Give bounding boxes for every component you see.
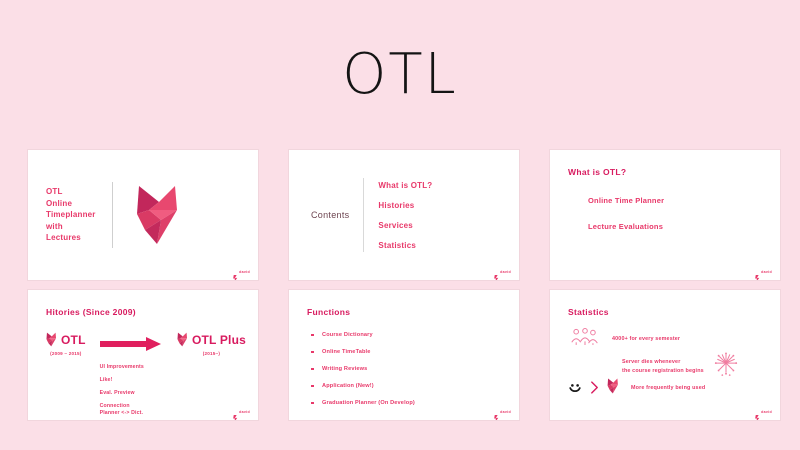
bullet-icon xyxy=(311,334,314,335)
cover-title: OTL Online Timeplanner with Lectures xyxy=(46,186,96,244)
bolt-icon xyxy=(755,269,759,275)
contents-list: What is OTL? Histories Services Statisti… xyxy=(378,181,432,250)
footer-mark-text: david xyxy=(761,410,772,414)
slide-heading: Functions xyxy=(307,307,350,317)
history-left-name: OTL xyxy=(61,333,86,347)
history-right-name: OTL Plus xyxy=(192,333,246,347)
list-item: Application (New!) xyxy=(311,383,415,389)
statistics-users-text: 4000+ for every semester xyxy=(612,335,680,343)
bullet-icon xyxy=(311,402,314,403)
statistics-server-text: Server dies whenever the course registra… xyxy=(622,358,704,374)
footer-mark-text: david xyxy=(500,410,511,414)
statistics-row-usage: More frequently being used xyxy=(568,378,705,399)
list-item-label: Course Dictionary xyxy=(322,332,373,338)
history-left: OTL (2009 ~ 2015) xyxy=(46,332,86,356)
list-item-label: Application (New!) xyxy=(322,383,374,389)
contents-label: Contents xyxy=(311,210,349,220)
statistics-usage-text: More frequently being used xyxy=(631,384,705,392)
statistics-row-server: Server dies whenever the course registra… xyxy=(622,352,766,381)
slide-heading: Statistics xyxy=(568,307,609,317)
footer-mark: david xyxy=(233,409,250,415)
list-item[interactable]: Histories xyxy=(378,201,432,210)
history-left-years: (2009 ~ 2015) xyxy=(50,351,81,356)
slide-heading: Hitories (Since 2009) xyxy=(46,307,136,317)
history-note: UI Improvements xyxy=(100,364,144,371)
history-middle: UI Improvements Like! Eval. Preview Conn… xyxy=(96,332,167,417)
slide-heading: What is OTL? xyxy=(568,167,626,177)
what-is-otl-list: Online Time Planner Lecture Evaluations xyxy=(588,196,664,231)
footer-mark: david xyxy=(755,269,772,275)
footer-mark: david xyxy=(755,409,772,415)
otl-bolt-logo-icon xyxy=(607,378,619,399)
bolt-icon xyxy=(755,409,759,415)
slide-what-is-otl[interactable]: What is OTL? Online Time Planner Lecture… xyxy=(550,150,780,280)
list-item: Online TimeTable xyxy=(311,349,415,355)
history-left-brand: OTL xyxy=(46,332,86,347)
slide-statistics[interactable]: Statistics 4000+ for every semester Serv xyxy=(550,290,780,420)
slide-contents[interactable]: Contents What is OTL? Histories Services… xyxy=(289,150,519,280)
divider xyxy=(363,178,364,252)
footer-mark-text: david xyxy=(500,270,511,274)
list-item[interactable]: Services xyxy=(378,221,432,230)
people-group-icon xyxy=(570,328,600,351)
bolt-icon xyxy=(233,409,237,415)
list-item-label: Online TimeTable xyxy=(322,349,371,355)
contents-content: Contents What is OTL? Histories Services… xyxy=(289,150,519,280)
bullet-icon xyxy=(311,385,314,386)
slide-cover[interactable]: OTL Online Timeplanner with Lectures dav… xyxy=(28,150,258,280)
otl-bolt-logo-icon xyxy=(177,332,188,347)
divider xyxy=(112,182,113,248)
slide-functions[interactable]: Functions Course Dictionary Online TimeT… xyxy=(289,290,519,420)
list-item: Lecture Evaluations xyxy=(588,222,664,231)
page-title: OTL xyxy=(0,42,800,107)
history-right: OTL Plus (2015~) xyxy=(177,332,246,356)
functions-list: Course Dictionary Online TimeTable Writi… xyxy=(311,332,415,406)
list-item-label: Writing Reviews xyxy=(322,366,367,372)
list-item: Course Dictionary xyxy=(311,332,415,338)
list-item: Graduation Planner (On Develop) xyxy=(311,400,415,406)
footer-mark: david xyxy=(233,269,250,275)
right-arrow-icon xyxy=(100,336,162,357)
history-right-brand: OTL Plus xyxy=(177,332,246,347)
list-item: Online Time Planner xyxy=(588,196,664,205)
bullet-icon xyxy=(311,368,314,369)
footer-mark-text: david xyxy=(239,270,250,274)
bullet-icon xyxy=(311,351,314,352)
bolt-icon xyxy=(494,269,498,275)
otl-bolt-logo-icon xyxy=(135,184,181,246)
slide-grid: OTL Online Timeplanner with Lectures dav… xyxy=(28,150,780,420)
history-right-years: (2015~) xyxy=(203,351,220,356)
list-item: Writing Reviews xyxy=(311,366,415,372)
footer-mark: david xyxy=(494,409,511,415)
footer-mark-text: david xyxy=(761,270,772,274)
footer-mark-text: david xyxy=(239,410,250,414)
history-note: Like! xyxy=(100,377,144,384)
bolt-icon xyxy=(494,409,498,415)
firework-icon xyxy=(714,352,738,381)
list-item-label: Graduation Planner (On Develop) xyxy=(322,400,415,406)
cover-content: OTL Online Timeplanner with Lectures xyxy=(28,150,258,280)
history-note: Connection Planner <-> Dict. xyxy=(100,403,144,417)
list-item[interactable]: Statistics xyxy=(378,241,432,250)
bolt-icon xyxy=(233,269,237,275)
histories-row: OTL (2009 ~ 2015) UI Improvements Like! … xyxy=(46,332,246,417)
slide-histories[interactable]: Hitories (Since 2009) OTL xyxy=(28,290,258,420)
otl-bolt-logo-icon xyxy=(46,332,57,347)
smiley-icon xyxy=(568,381,582,397)
history-note: Eval. Preview xyxy=(100,390,144,397)
list-item[interactable]: What is OTL? xyxy=(378,181,432,190)
footer-mark: david xyxy=(494,269,511,275)
statistics-row-users: 4000+ for every semester xyxy=(570,328,680,351)
history-notes: UI Improvements Like! Eval. Preview Conn… xyxy=(96,364,144,417)
chevron-right-icon xyxy=(590,380,599,397)
